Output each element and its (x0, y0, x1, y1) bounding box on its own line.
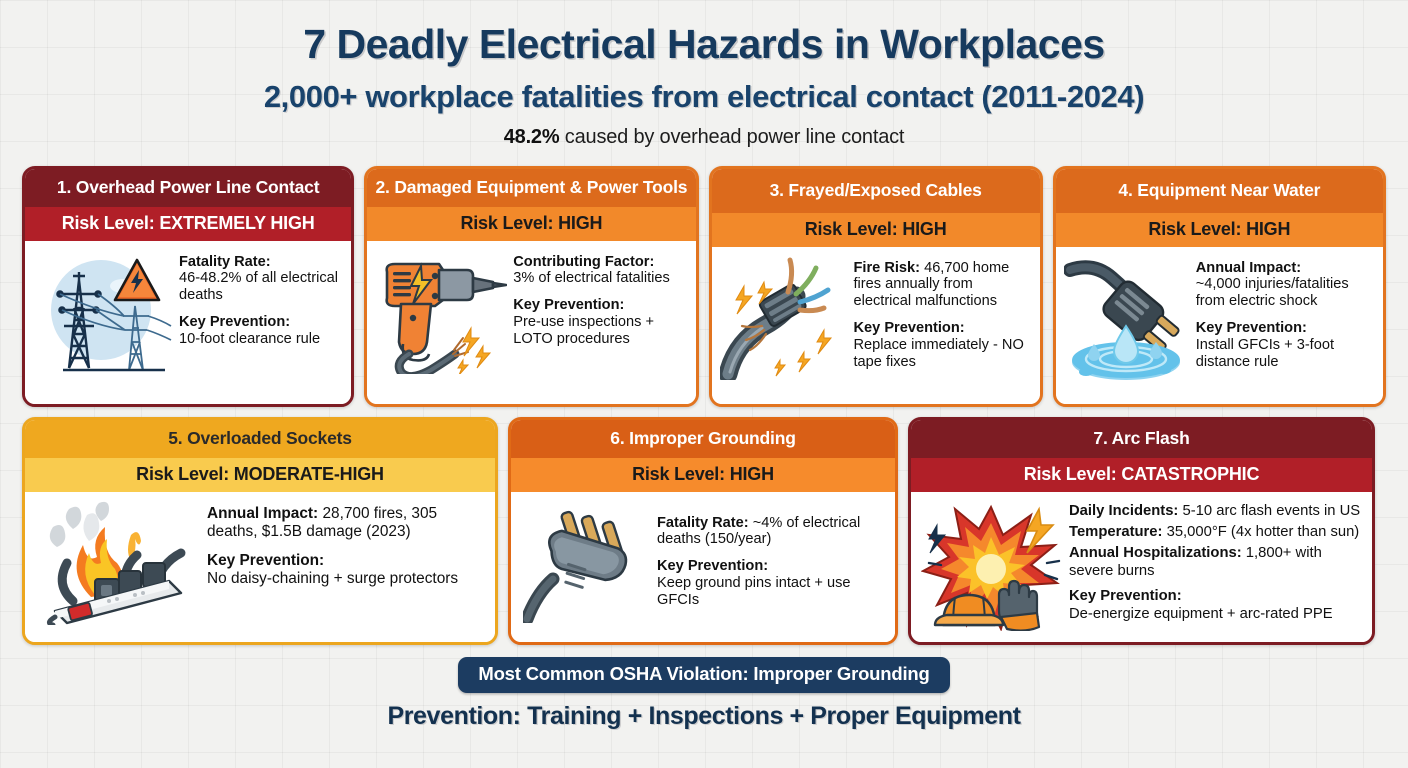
arc-flash-explosion-icon (921, 501, 1061, 631)
hazard-card-title: 7. Arc Flash (911, 420, 1372, 457)
fact-item: Annual Impact: 28,700 fires, 305 deaths,… (207, 505, 485, 542)
page-title: 7 Deadly Electrical Hazards in Workplace… (22, 22, 1386, 66)
fact-item: Key Prevention: De-energize equipment + … (1069, 588, 1362, 623)
fact-item: Key Prevention: 10-foot clearance rule (179, 314, 341, 348)
hazard-card-body: Fatality Rate: 46-48.2% of all electrica… (25, 241, 351, 405)
hazard-card-body: Annual Impact: ~4,000 injuries/fatalitie… (1056, 247, 1383, 405)
fact-label: Contributing Factor: (513, 254, 685, 271)
fact-label: Key Prevention: (1196, 320, 1373, 337)
hazard-card-title: 4. Equipment Near Water (1056, 169, 1383, 212)
page-subnote: 48.2% caused by overhead power line cont… (22, 126, 1386, 149)
fact-label: Fatality Rate: (657, 515, 749, 531)
fact-value: 35,000°F (4x hotter than sun) (1167, 524, 1360, 540)
hazard-card-1[interactable]: 1. Overhead Power Line Contact Risk Leve… (22, 166, 354, 407)
fact-value: De-energize equipment + arc-rated PPE (1069, 606, 1333, 622)
fact-value: Install GFCIs + 3-foot distance rule (1196, 337, 1334, 370)
three-prong-plug-icon (523, 501, 647, 623)
hazard-row-top: 1. Overhead Power Line Contact Risk Leve… (22, 166, 1386, 407)
fact-label: Fire Risk: (854, 260, 921, 276)
risk-level-badge: Risk Level: HIGH (712, 213, 1040, 247)
plug-in-water-icon (1064, 256, 1190, 382)
hazard-card-5[interactable]: 5. Overloaded Sockets Risk Level: MODERA… (22, 417, 498, 645)
risk-level-badge: Risk Level: HIGH (1056, 213, 1383, 247)
fact-value: 5-10 arc flash events in US (1182, 503, 1360, 519)
hazard-card-title: 2. Damaged Equipment & Power Tools (367, 169, 695, 206)
fact-item: Key Prevention: Replace immediately - NO… (854, 320, 1030, 371)
hazard-card-2[interactable]: 2. Damaged Equipment & Power Tools Risk … (364, 166, 698, 407)
facts-list: Contributing Factor: 3% of electrical fa… (513, 250, 685, 349)
facts-list: Fatality Rate: 46-48.2% of all electrica… (179, 250, 341, 349)
fact-item: Fatality Rate: ~4% of electrical deaths … (657, 515, 885, 549)
fact-item: Fatality Rate: 46-48.2% of all electrica… (179, 254, 341, 305)
power-pylon-icon (33, 250, 173, 382)
risk-level-badge: Risk Level: CATASTROPHIC (911, 458, 1372, 492)
fact-label: Key Prevention: (513, 297, 685, 314)
risk-level-badge: Risk Level: MODERATE-HIGH (25, 458, 495, 492)
hazard-card-7[interactable]: 7. Arc Flash Risk Level: CATASTROPHIC (908, 417, 1375, 645)
fact-value: 46-48.2% of all electrical deaths (179, 270, 338, 303)
risk-level-badge: Risk Level: HIGH (367, 207, 695, 241)
fact-label: Key Prevention: (854, 320, 1030, 337)
fact-label: Key Prevention: (179, 314, 341, 331)
fact-label: Annual Hospitalizations: (1069, 545, 1242, 561)
fact-value: Pre-use inspections + LOTO procedures (513, 314, 654, 347)
hazard-card-4[interactable]: 4. Equipment Near Water Risk Level: HIGH (1053, 166, 1386, 407)
fact-item: Key Prevention: Keep ground pins intact … (657, 558, 885, 609)
fact-label: Key Prevention: (207, 552, 485, 570)
fact-value: 10-foot clearance rule (179, 331, 320, 347)
fact-item: Annual Impact: ~4,000 injuries/fatalitie… (1196, 260, 1373, 311)
subnote-stat: 48.2% (504, 126, 560, 148)
fact-item: Key Prevention: Install GFCIs + 3-foot d… (1196, 320, 1373, 371)
hazard-card-title: 6. Improper Grounding (511, 420, 895, 457)
hazard-card-3[interactable]: 3. Frayed/Exposed Cables Risk Level: HIG… (709, 166, 1043, 407)
hazard-card-title: 1. Overhead Power Line Contact (25, 169, 351, 206)
burning-power-strip-icon (39, 501, 191, 625)
frayed-cable-icon (720, 256, 848, 380)
hazard-card-body: Fire Risk: 46,700 home fires annually fr… (712, 247, 1040, 405)
fact-value: Replace immediately - NO tape fixes (854, 337, 1024, 370)
facts-list: Fatality Rate: ~4% of electrical deaths … (657, 501, 885, 610)
fact-value: ~4,000 injuries/fatalities from electric… (1196, 276, 1349, 309)
page-subtitle: 2,000+ workplace fatalities from electri… (22, 79, 1386, 115)
fact-item: Fire Risk: 46,700 home fires annually fr… (854, 260, 1030, 311)
fact-item: Temperature: 35,000°F (4x hotter than su… (1069, 524, 1362, 541)
osha-violation-badge: Most Common OSHA Violation: Improper Gro… (458, 657, 949, 693)
fact-item: Daily Incidents: 5-10 arc flash events i… (1069, 503, 1362, 520)
hazard-card-body: Daily Incidents: 5-10 arc flash events i… (911, 492, 1372, 643)
risk-level-badge: Risk Level: EXTREMELY HIGH (25, 207, 351, 241)
fact-label: Annual Impact: (1196, 260, 1373, 277)
fact-label: Fatality Rate: (179, 254, 341, 271)
header: 7 Deadly Electrical Hazards in Workplace… (22, 0, 1386, 149)
footer: Most Common OSHA Violation: Improper Gro… (22, 657, 1386, 731)
fact-label: Key Prevention: (1069, 588, 1362, 605)
fact-label: Key Prevention: (657, 558, 885, 575)
fact-item: Contributing Factor: 3% of electrical fa… (513, 254, 685, 288)
subnote-rest: caused by overhead power line contact (559, 126, 904, 148)
fact-value: No daisy-chaining + surge protectors (207, 570, 458, 587)
fact-item: Key Prevention: Pre-use inspections + LO… (513, 297, 685, 348)
hazard-card-body: Fatality Rate: ~4% of electrical deaths … (511, 492, 895, 643)
hazard-card-title: 5. Overloaded Sockets (25, 420, 495, 457)
risk-level-badge: Risk Level: HIGH (511, 458, 895, 492)
hazard-card-body: Annual Impact: 28,700 fires, 305 deaths,… (25, 492, 495, 643)
fact-item: Annual Hospitalizations: 1,800+ with sev… (1069, 545, 1362, 580)
facts-list: Annual Impact: ~4,000 injuries/fatalitie… (1196, 256, 1373, 372)
fact-item: Key Prevention: No daisy-chaining + surg… (207, 552, 485, 589)
fact-label: Daily Incidents: (1069, 503, 1178, 519)
hazard-row-bottom: 5. Overloaded Sockets Risk Level: MODERA… (22, 417, 1386, 645)
fact-label: Temperature: (1069, 524, 1162, 540)
infographic-page: 7 Deadly Electrical Hazards in Workplace… (0, 0, 1408, 768)
hazard-card-body: Contributing Factor: 3% of electrical fa… (367, 241, 695, 405)
facts-list: Annual Impact: 28,700 fires, 305 deaths,… (207, 501, 485, 589)
power-drill-icon (375, 250, 507, 374)
fact-label: Annual Impact: (207, 505, 318, 522)
facts-list: Daily Incidents: 5-10 arc flash events i… (1069, 501, 1362, 624)
facts-list: Fire Risk: 46,700 home fires annually fr… (854, 256, 1030, 372)
prevention-tagline: Prevention: Training + Inspections + Pro… (22, 702, 1386, 731)
hazard-card-title: 3. Frayed/Exposed Cables (712, 169, 1040, 212)
hazard-card-6[interactable]: 6. Improper Grounding Risk Level: HIGH (508, 417, 898, 645)
fact-value: Keep ground pins intact + use GFCIs (657, 575, 851, 608)
fact-value: 3% of electrical fatalities (513, 270, 670, 286)
